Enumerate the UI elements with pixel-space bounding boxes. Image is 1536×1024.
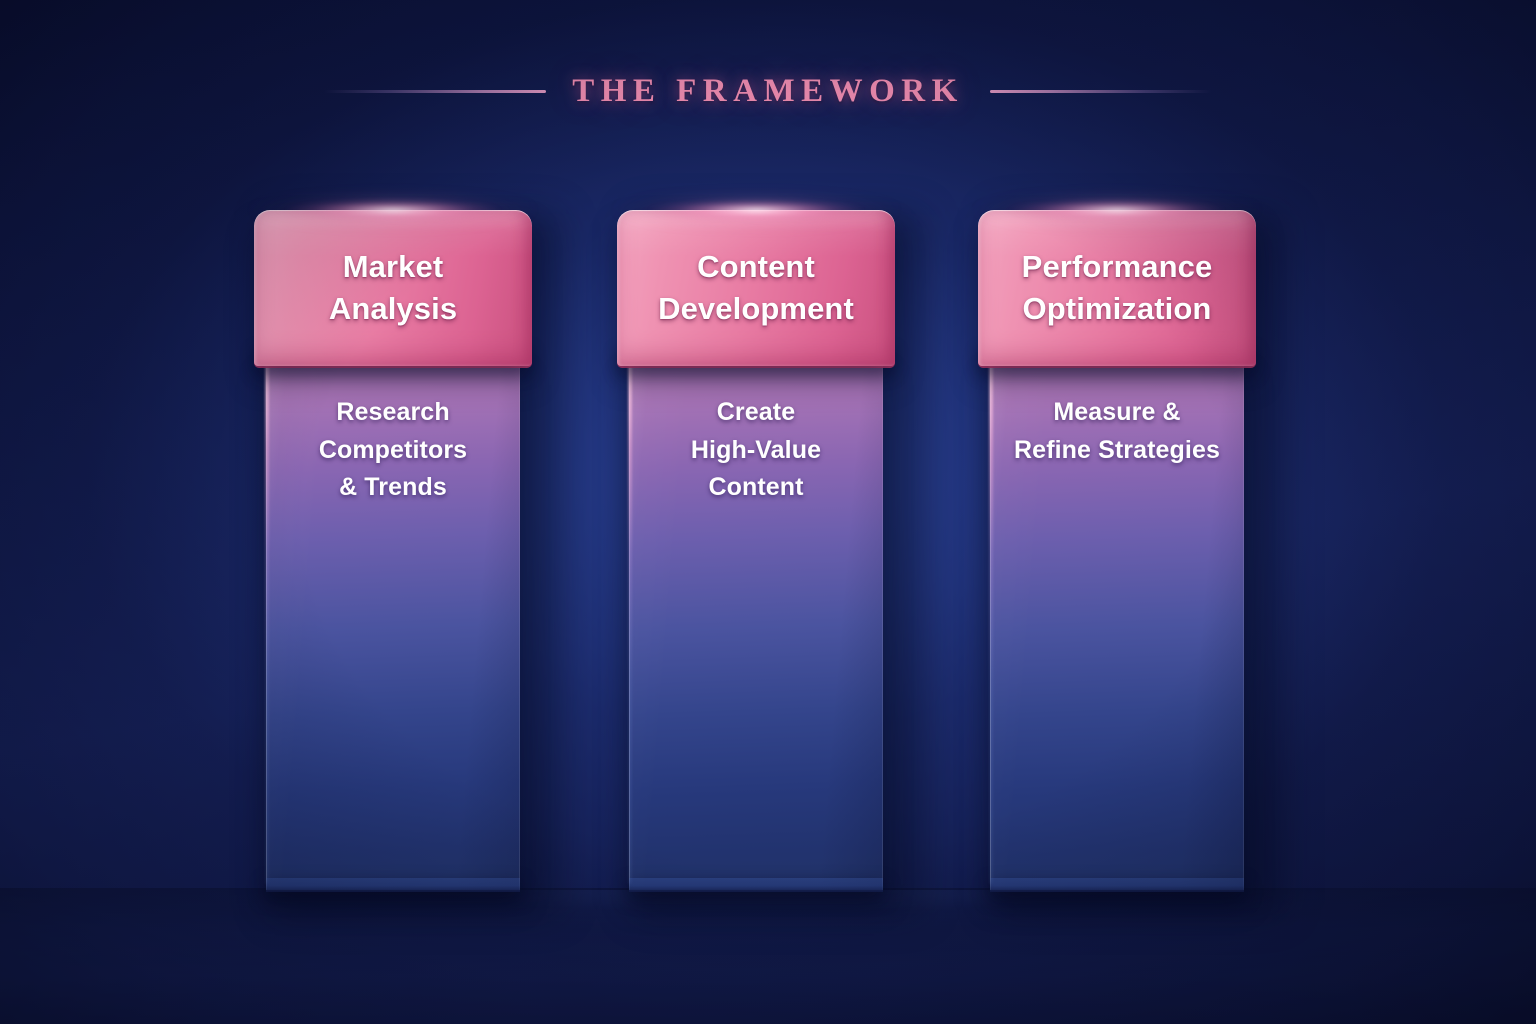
divider-line-right-icon (990, 90, 1212, 93)
pillar-cap[interactable]: Content Development (617, 210, 895, 366)
pillar-description: Create High-Value Content (629, 394, 883, 507)
pillar-base (629, 878, 883, 892)
pillar-cap-glow-icon (1008, 196, 1226, 222)
divider-line-left-icon (324, 90, 546, 93)
framework-infographic: THE FRAMEWORK Market Analysis Research C… (0, 0, 1536, 1024)
pillar-description: Measure & Refine Strategies (990, 394, 1244, 469)
pillar-base (266, 878, 520, 892)
pillar-cap-glow-icon (284, 196, 502, 222)
pillar-cap[interactable]: Performance Optimization (978, 210, 1256, 366)
pillar-title: Performance Optimization (1014, 246, 1221, 329)
pillar-title: Market Analysis (321, 246, 465, 329)
pillar-cap[interactable]: Market Analysis (254, 210, 532, 366)
header: THE FRAMEWORK (0, 68, 1536, 114)
pillar-base (990, 878, 1244, 892)
pillar-cap-glow-icon (647, 196, 865, 222)
page-title: THE FRAMEWORK (572, 73, 964, 110)
pillar-description: Research Competitors & Trends (266, 394, 520, 507)
pillar-title: Content Development (650, 246, 862, 329)
